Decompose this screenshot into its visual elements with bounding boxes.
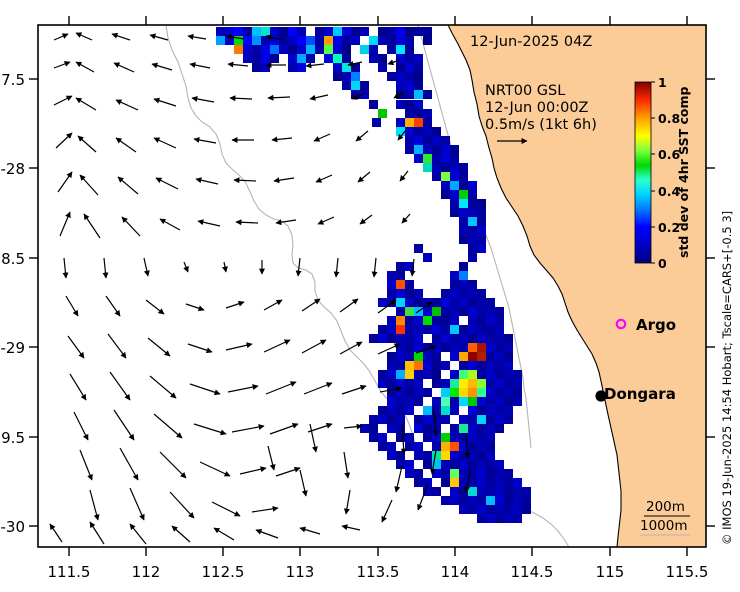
x-tick-labels: 111.5 112 112.5 113 113.5 114 114.5 115 … (48, 563, 709, 581)
depth-legend-shallow-label: 200m (646, 499, 685, 515)
y-tick-label: -28.5 (0, 250, 25, 268)
map-plot-area (38, 25, 706, 547)
x-tick-label: 112 (132, 563, 161, 581)
colorbar-tick-label: 0 (658, 256, 667, 271)
x-tick-label: 112.5 (202, 563, 245, 581)
figure-canvas: 111.5 112 112.5 113 113.5 114 114.5 115 … (0, 0, 740, 592)
current-legend-line1: NRT00 GSL (485, 83, 565, 99)
current-legend-line3: 0.5m/s (1kt 6h) (485, 117, 597, 133)
argo-label: Argo (636, 316, 676, 334)
y-tick-label: -28 (1, 160, 26, 178)
x-tick-label: 114.5 (511, 563, 554, 581)
colorbar-tick-label: 1 (658, 75, 667, 90)
x-tick-label: 114 (441, 563, 470, 581)
dongara-label: Dongara (604, 385, 676, 403)
x-tick-label: 111.5 (48, 563, 91, 581)
y-tick-label: -27.5 (0, 71, 25, 89)
x-tick-label: 113.5 (357, 563, 400, 581)
colorbar-title: std dev of 4hr SST comp (676, 87, 691, 258)
colorbar-gradient (635, 82, 651, 263)
timestamp-label: 12-Jun-2025 04Z (470, 34, 592, 50)
credit-text: © IMOS 19-Jun-2025 14:54 Hobart; Tscale=… (720, 211, 734, 545)
y-tick-label: -29 (1, 339, 26, 357)
x-tick-label: 115.5 (666, 563, 709, 581)
current-legend-line2: 12-Jun 00:00Z (485, 100, 589, 116)
x-tick-label: 113 (286, 563, 315, 581)
y-tick-label: -30 (1, 518, 26, 536)
marker-dongara[interactable]: Dongara (595, 385, 675, 403)
x-tick-label: 115 (596, 563, 625, 581)
depth-legend-deep-label: 1000m (640, 518, 688, 534)
y-tick-label: -29.5 (0, 429, 25, 447)
